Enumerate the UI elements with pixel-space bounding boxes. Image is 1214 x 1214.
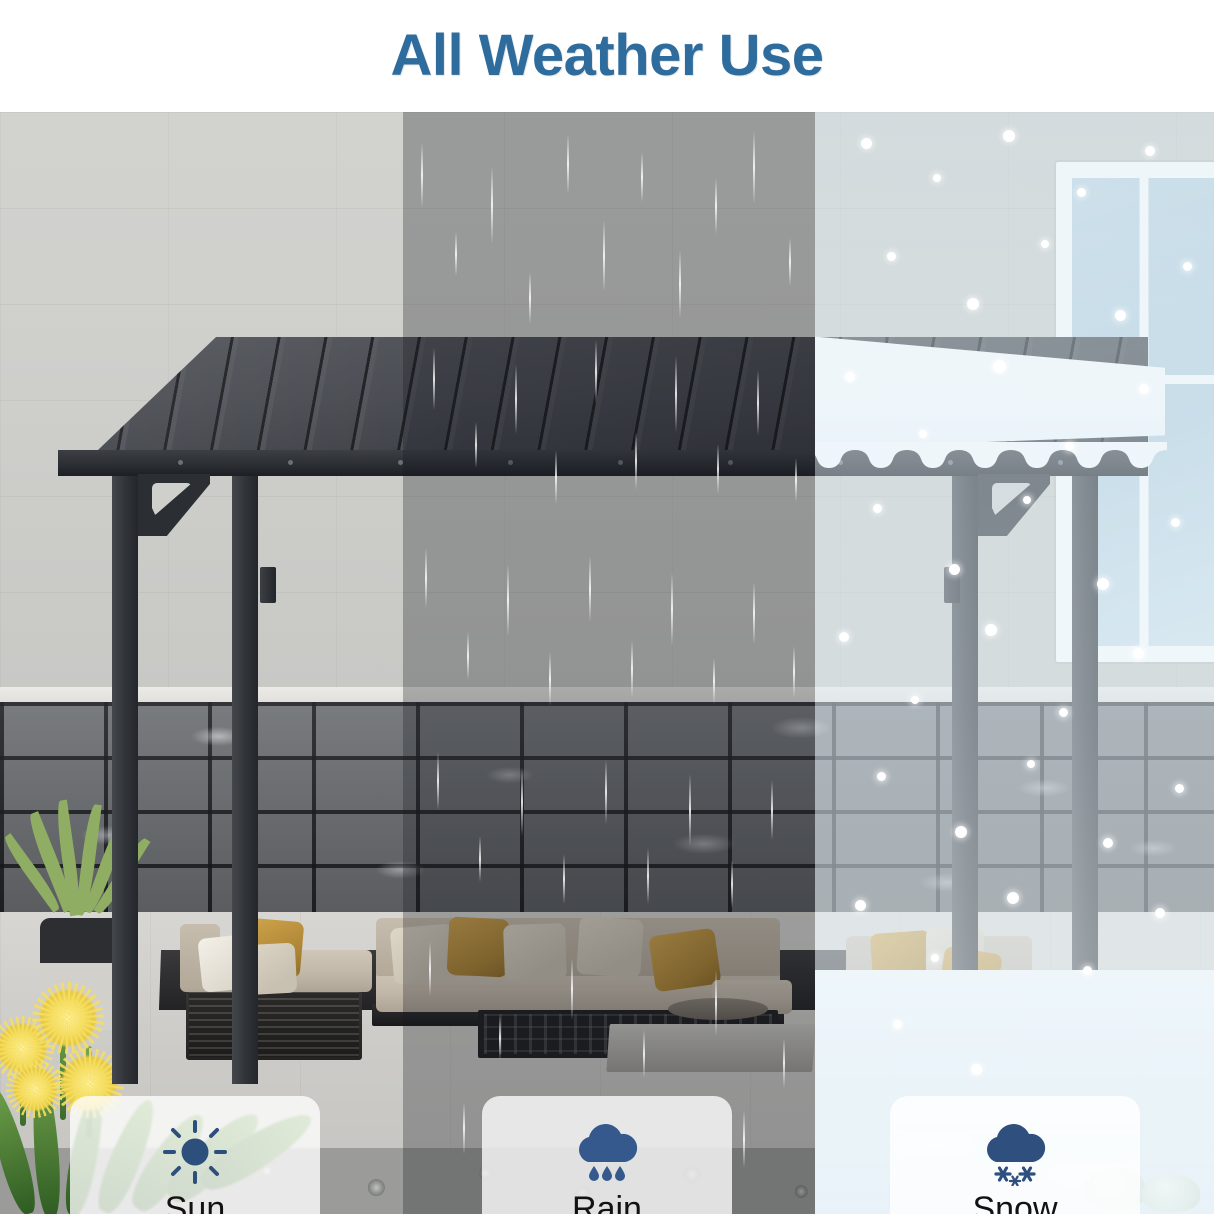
wall-mount-bracket bbox=[260, 567, 276, 603]
snow-covered-shrub bbox=[1142, 1174, 1200, 1212]
round-tray bbox=[668, 998, 768, 1020]
product-feature-image: All Weather Use bbox=[0, 0, 1214, 1214]
dandelion-flower bbox=[12, 1066, 58, 1112]
sun-icon bbox=[158, 1118, 232, 1186]
wall-mount-bracket bbox=[944, 567, 960, 603]
weather-badge-snow[interactable]: Snow bbox=[890, 1096, 1140, 1214]
page-title: All Weather Use bbox=[390, 27, 823, 85]
weather-badge-sun[interactable]: Sun bbox=[70, 1096, 320, 1214]
pillow-cream bbox=[503, 923, 567, 981]
pergola-post-front-left bbox=[112, 464, 138, 1084]
pillow-cream bbox=[576, 916, 644, 978]
badge-label-sun: Sun bbox=[165, 1192, 226, 1214]
scene: Sun Rain bbox=[0, 112, 1214, 1214]
rain-cloud-icon bbox=[570, 1118, 644, 1186]
pillow-gold bbox=[648, 928, 721, 993]
pillow-cream bbox=[390, 923, 457, 984]
title-bar: All Weather Use bbox=[0, 0, 1214, 112]
stone-side-table bbox=[606, 1024, 815, 1072]
stacked-stone-wall bbox=[0, 702, 1214, 917]
snow-cloud-icon bbox=[978, 1118, 1052, 1186]
weather-badge-rain[interactable]: Rain bbox=[482, 1096, 732, 1214]
snow-drip-shape bbox=[815, 442, 1167, 470]
pergola-post-rear-left bbox=[232, 464, 258, 1084]
snow-scalloped-edge bbox=[815, 442, 1167, 470]
badge-label-snow: Snow bbox=[972, 1192, 1057, 1214]
dandelion-flower bbox=[38, 988, 98, 1048]
badge-label-rain: Rain bbox=[572, 1192, 642, 1214]
pillow-gold bbox=[447, 916, 510, 977]
